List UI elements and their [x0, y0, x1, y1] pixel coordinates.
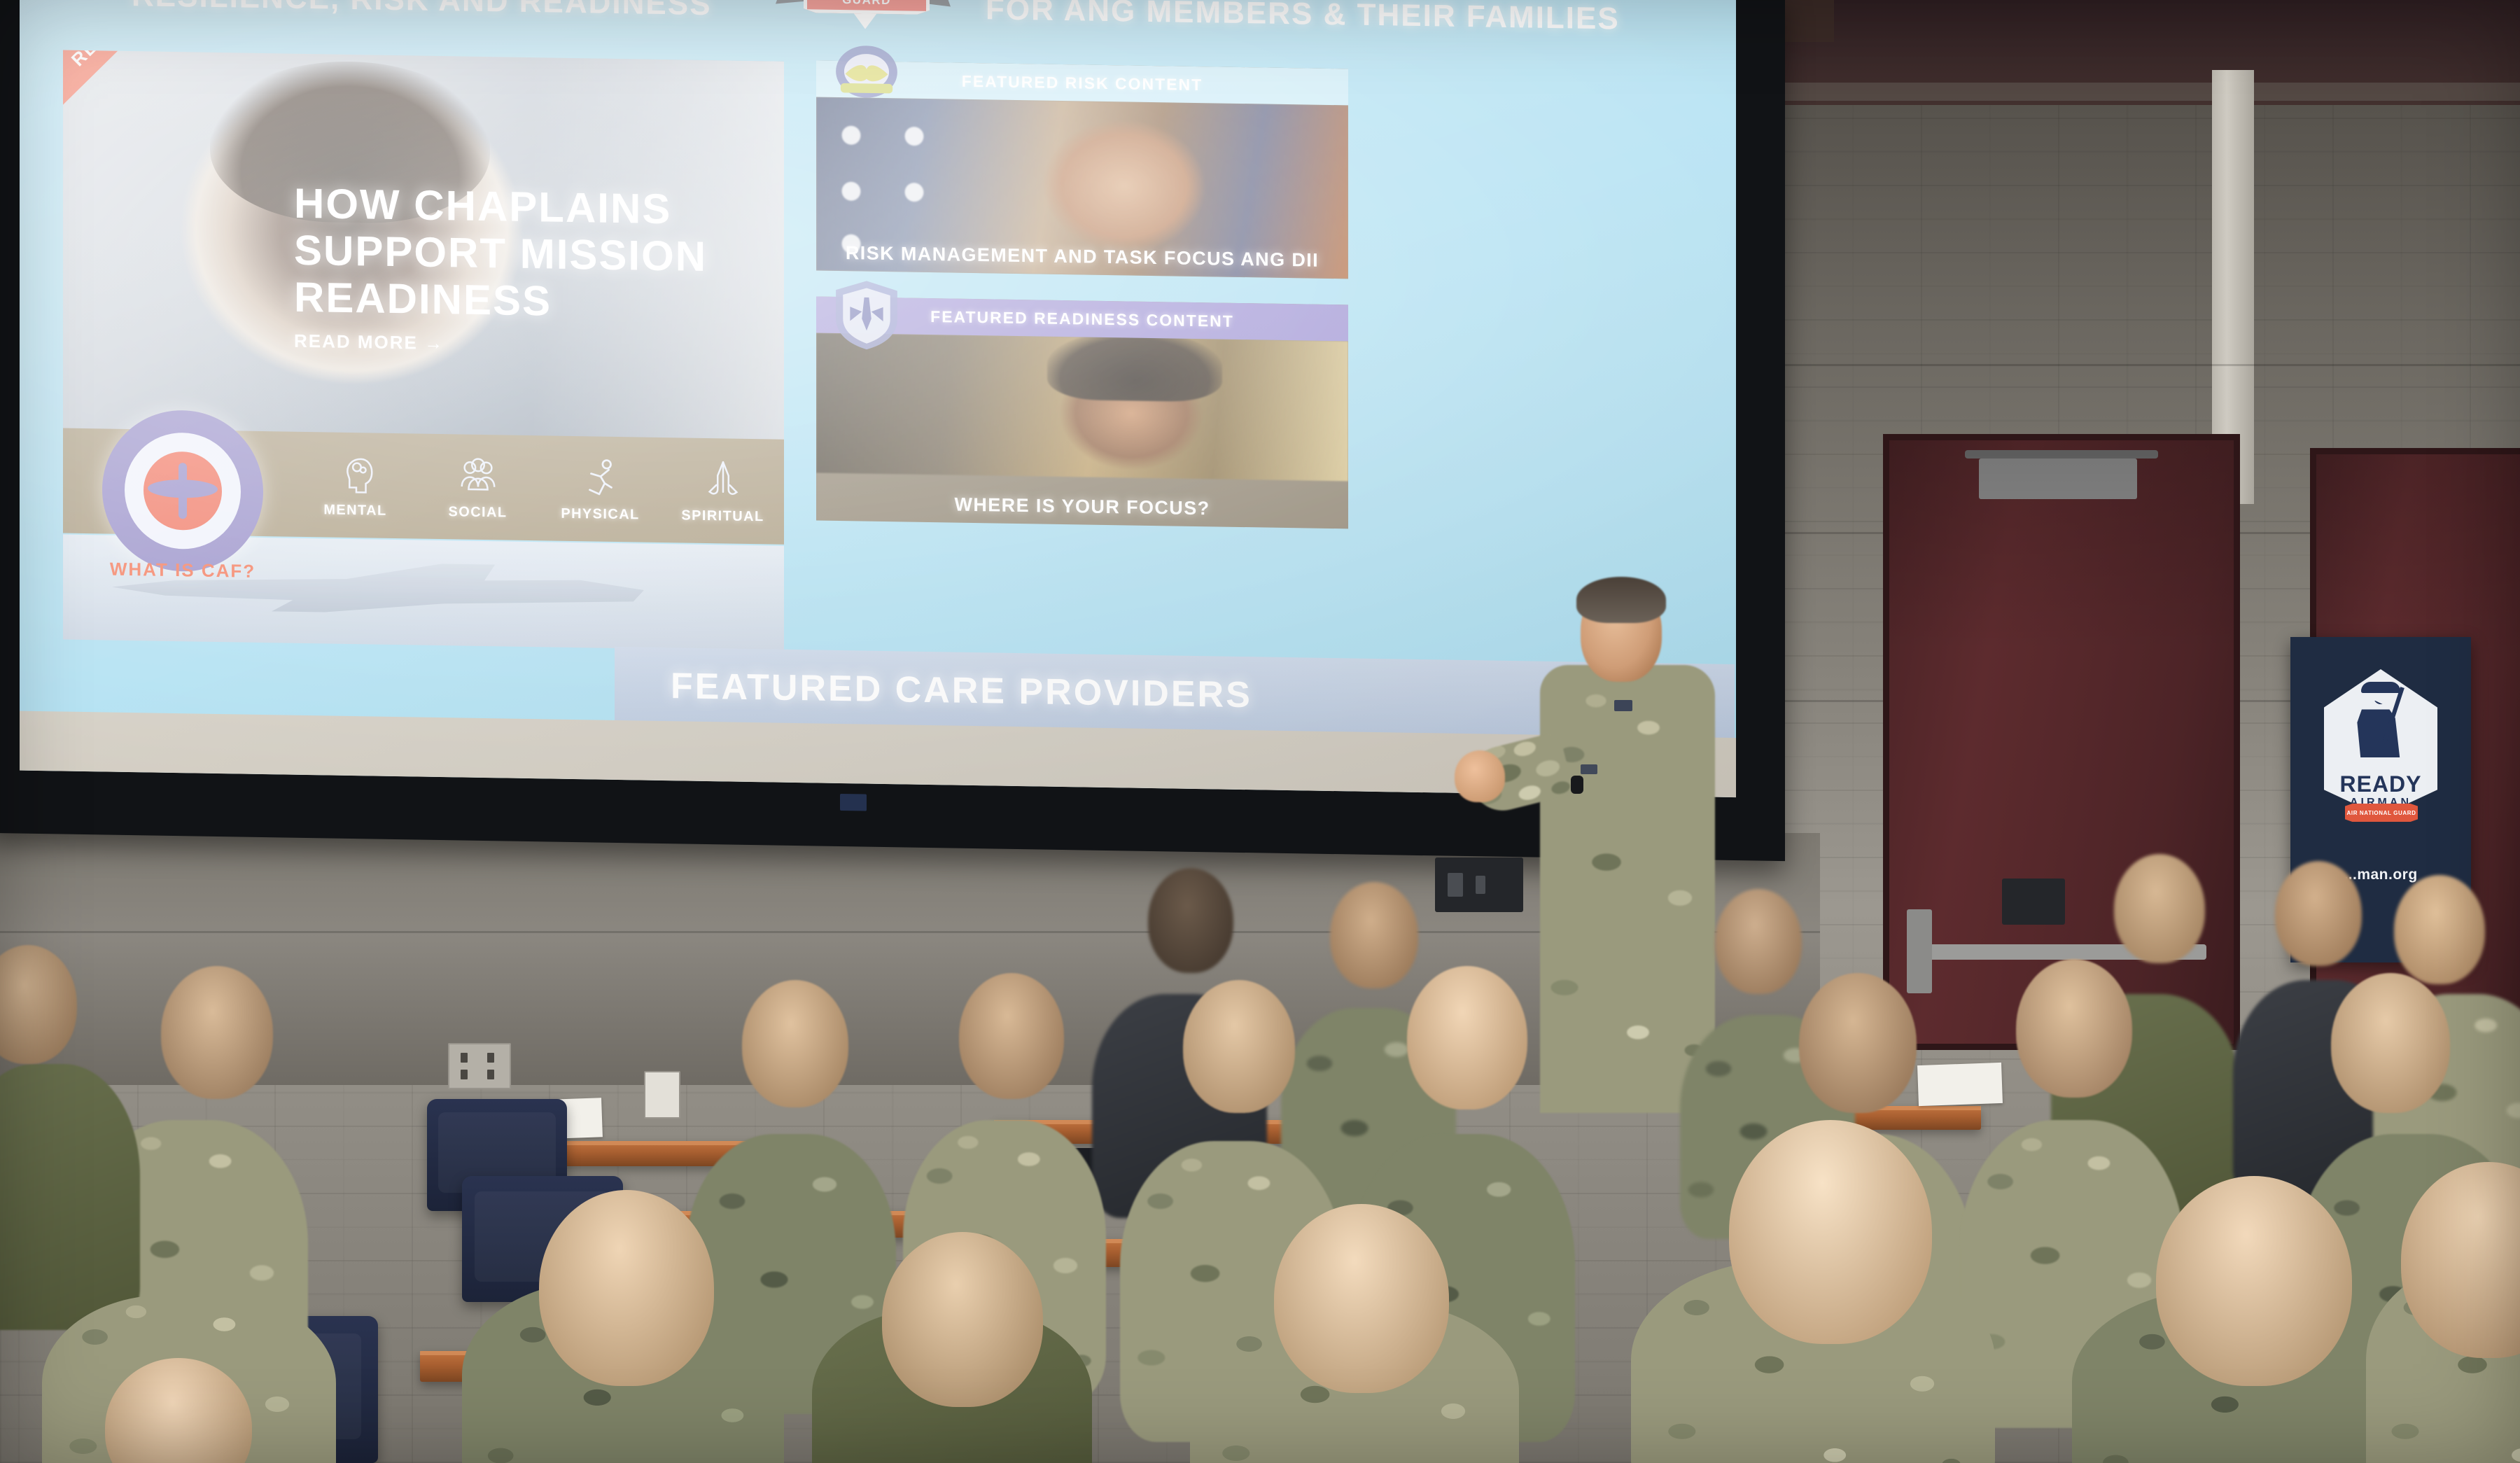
pillar-label: PHYSICAL	[561, 505, 639, 523]
running-person-icon	[579, 456, 622, 500]
risk-card-banner-label: FEATURED RISK CONTENT	[962, 71, 1203, 94]
projection-screen-surface: RESILIENCE, RISK AND READINESS FOR ANG M…	[20, 0, 1736, 797]
handout-paper[interactable]	[1917, 1063, 2003, 1106]
hero-card[interactable]: FEATURED RESILIENCE CONTENT HOW CHAPLAIN…	[63, 50, 784, 454]
wall-panel-right	[2002, 878, 2065, 925]
minuteman-hat-icon	[2361, 682, 2400, 693]
speaker-name-tape	[1581, 764, 1597, 774]
wall-seam	[1750, 364, 2520, 366]
hero-title: HOW CHAPLAINS SUPPORT MISSION READINESS	[294, 180, 714, 328]
pillar-physical[interactable]: PHYSICAL	[548, 455, 653, 523]
pillar-label: MENTAL	[323, 502, 386, 519]
pillar-label: SOCIAL	[449, 504, 507, 521]
badge-label: AIR NATIONAL GUARD	[807, 0, 926, 8]
speaker-torso	[1540, 665, 1715, 1113]
wall-outlet-left[interactable]	[448, 1043, 511, 1089]
screenshot-root: READY AIRMAN AIR NATIONAL GUARD ...man.o…	[0, 0, 2520, 1463]
screen-brand-tab	[840, 794, 867, 811]
pillar-spiritual[interactable]: SPIRITUAL	[671, 457, 776, 525]
wall-outlet-plate[interactable]	[644, 1071, 680, 1119]
caf-seal-core	[143, 451, 222, 531]
badge-plate: AIR NATIONAL GUARD	[804, 0, 930, 15]
caf-seal-icon	[102, 409, 263, 573]
banner-ribbon-label: AIR NATIONAL GUARD	[2347, 810, 2416, 816]
projection-screen-frame: RESILIENCE, RISK AND READINESS FOR ANG M…	[0, 0, 1785, 861]
praying-hands-icon	[701, 457, 745, 501]
presentation-slide: RESILIENCE, RISK AND READINESS FOR ANG M…	[20, 0, 1736, 797]
hero-read-more-link[interactable]: READ MORE →	[294, 330, 444, 354]
us-flag-stars	[823, 114, 984, 264]
lapel-microphone	[1571, 776, 1583, 794]
exit-door-left[interactable]	[1883, 434, 2240, 1050]
air-national-guard-badge-icon: AIR NATIONAL GUARD	[776, 0, 951, 37]
head-brain-icon	[334, 451, 377, 496]
readiness-card-title: WHERE IS YOUR FOCUS?	[816, 491, 1348, 524]
pillar-label: SPIRITUAL	[681, 507, 764, 525]
caf-seal-sword-icon	[178, 463, 187, 519]
speaker-rank-insignia	[1614, 700, 1632, 711]
what-is-caf-link[interactable]: WHAT IS CAF?	[102, 558, 263, 582]
pillar-mental[interactable]: MENTAL	[303, 451, 408, 519]
people-group-icon	[456, 454, 500, 498]
banner-brand-line1: READY	[2339, 773, 2421, 795]
banner-ribbon: AIR NATIONAL GUARD	[2345, 804, 2418, 822]
wall-soffit	[1722, 83, 2520, 101]
wall-av-panel[interactable]	[1435, 857, 1523, 912]
air-force-shield-emblem-icon	[829, 272, 904, 356]
caf-seal-ring	[125, 432, 241, 550]
minuteman-pentagon-icon: READY AIRMAN	[2324, 669, 2437, 816]
featured-care-providers-label: FEATURED CARE PROVIDERS	[671, 665, 1252, 716]
pillar-social[interactable]: SOCIAL	[426, 453, 531, 521]
speaker-hair	[1576, 577, 1666, 623]
ang-eagle-emblem-icon	[829, 37, 904, 121]
readiness-card-banner-label: FEATURED READINESS CONTENT	[930, 307, 1234, 331]
speaker-hand	[1455, 750, 1505, 802]
